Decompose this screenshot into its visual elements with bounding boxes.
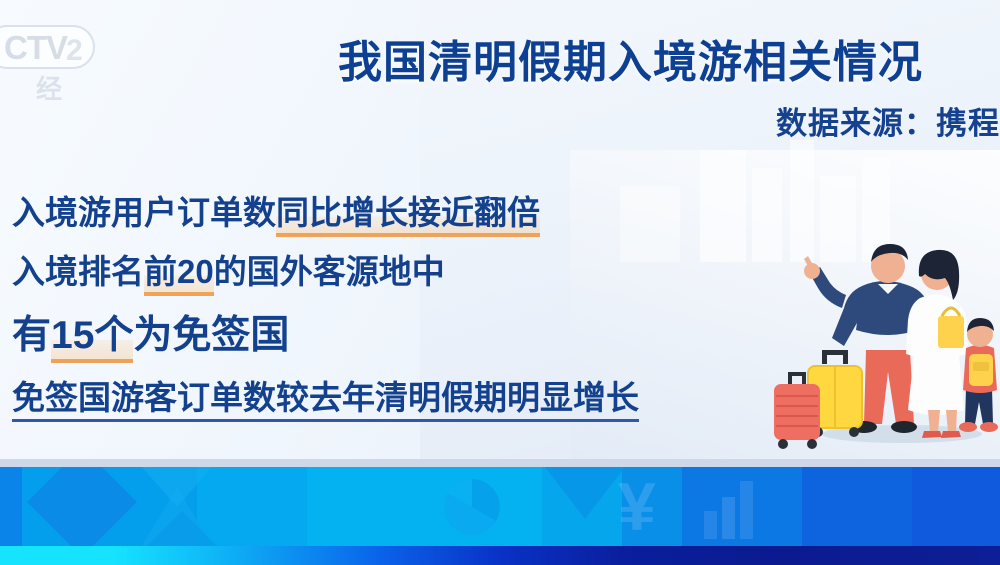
yen-symbol-icon: ¥ (618, 473, 656, 541)
broadcast-graphic-screen: CTV 2 经 我国清明假期入境游相关情况 数据来源：携程 入境游用户订单数同比… (0, 0, 1000, 565)
line-1-highlight: 同比增长接近翻倍 (276, 194, 540, 237)
line-2-highlight: 前20 (144, 253, 214, 296)
diamond-pattern (22, 467, 222, 546)
statistics-text-block: 入境游用户订单数同比增长接近翻倍 入境排名前20的国外客源地中 有15个为免签国… (12, 196, 772, 414)
statistic-line-3: 有15个为免签国 (12, 316, 772, 355)
line-1-prefix: 入境游用户订单数 (12, 194, 276, 231)
line-2-prefix: 入境排名 (12, 253, 144, 290)
line-3-suffix: 为免签国 (133, 314, 289, 357)
statistic-line-1: 入境游用户订单数同比增长接近翻倍 (12, 196, 772, 229)
line-2-suffix: 的国外客源地中 (214, 253, 445, 290)
data-source-label: 数据来源：携程 (776, 98, 1000, 143)
page-title: 我国清明假期入境游相关情况 (338, 26, 1000, 90)
chevron-motif (540, 467, 630, 546)
line-3-prefix: 有 (12, 314, 51, 357)
bar-chart-icon (700, 477, 770, 539)
statistic-line-2: 入境排名前20的国外客源地中 (12, 255, 772, 288)
banner-bottom-strip (0, 546, 1000, 565)
pie-chart-icon (440, 475, 504, 539)
line-4-highlight: 免签国游客订单数较去年清明假期明显增长 (12, 379, 639, 422)
svg-text:经: 经 (36, 74, 62, 105)
cctv2-logo: CTV 2 经 (0, 14, 124, 108)
svg-text:2: 2 (66, 34, 83, 67)
line-3-highlight: 15个 (51, 314, 133, 363)
statistic-line-4: 免签国游客订单数较去年清明假期明显增长 (12, 381, 772, 414)
bottom-decorative-banner: ¥ (0, 467, 1000, 565)
family-travelers-illustration (770, 238, 1000, 470)
svg-text:CTV: CTV (4, 29, 68, 66)
